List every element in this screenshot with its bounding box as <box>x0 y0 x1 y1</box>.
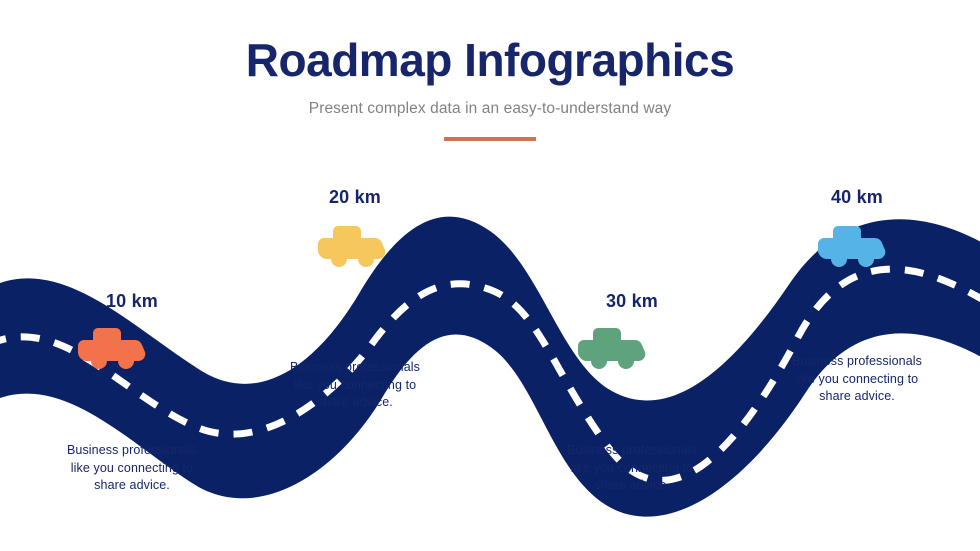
milestone-2-desc-line2: like you connecting to <box>240 377 470 395</box>
milestone-1-desc-line1: Business professionals <box>17 442 247 460</box>
milestone-1-description: Business professionals like you connecti… <box>17 442 247 495</box>
milestone-1-desc-line3: share advice. <box>17 477 247 495</box>
milestone-2-distance: 20 km <box>240 186 470 208</box>
car-icon-milestone-4 <box>818 220 892 270</box>
milestone-4-desc-line2: like you connecting to <box>742 371 972 389</box>
car-icon-milestone-1 <box>78 322 152 372</box>
car-icon-milestone-3 <box>578 322 652 372</box>
milestone-4-desc-line3: share advice. <box>742 388 972 406</box>
milestone-4-description: Business professionals like you connecti… <box>742 353 972 406</box>
milestone-4-desc-line1: Business professionals <box>742 353 972 371</box>
milestone-3-desc-line3: share advice. <box>517 477 747 495</box>
milestone-3-description: Business professionals like you connecti… <box>517 442 747 495</box>
milestone-3-distance: 30 km <box>517 290 747 312</box>
car-icon-milestone-2 <box>318 220 392 270</box>
milestone-1-distance: 10 km <box>17 290 247 312</box>
milestone-3-desc-line1: Business professionals <box>517 442 747 460</box>
milestone-2-desc-line3: share advice. <box>240 394 470 412</box>
milestone-4-distance: 40 km <box>742 186 972 208</box>
milestone-2-description: Business professionals like you connecti… <box>240 359 470 412</box>
milestone-2-desc-line1: Business professionals <box>240 359 470 377</box>
roadmap-infographic-slide: Roadmap Infographics Present complex dat… <box>0 0 980 551</box>
milestone-3-desc-line2: like you connecting to <box>517 460 747 478</box>
milestone-1-desc-line2: like you connecting to <box>17 460 247 478</box>
